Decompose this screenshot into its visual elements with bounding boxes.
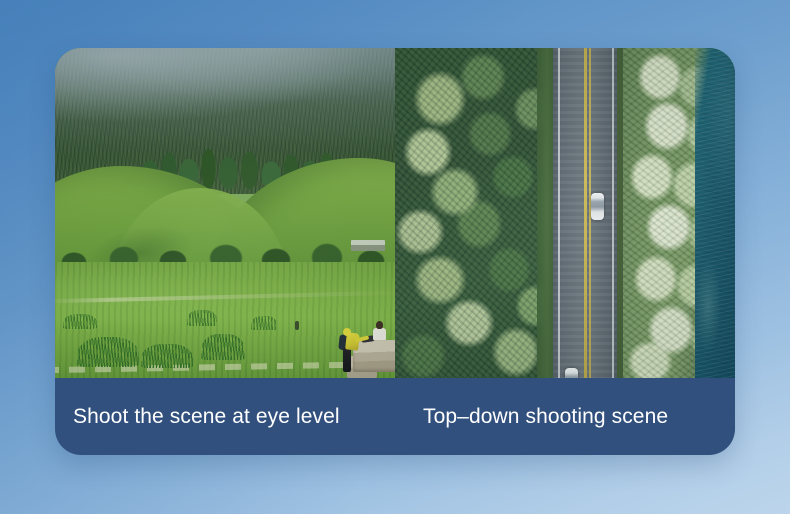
photo-color-grade-left: [55, 48, 395, 378]
caption-bar: Shoot the scene at eye level Top–down sh…: [55, 378, 735, 455]
photo-panel-top-down[interactable]: [395, 48, 735, 378]
screenshot-root: Shoot the scene at eye level Top–down sh…: [0, 0, 790, 514]
photo-panel-eye-level[interactable]: [55, 48, 395, 378]
caption-eye-level: Shoot the scene at eye level: [73, 405, 423, 429]
photo-color-grade-right: [395, 48, 735, 378]
comparison-card: Shoot the scene at eye level Top–down sh…: [55, 48, 735, 455]
photo-panes: [55, 48, 735, 378]
caption-top-down: Top–down shooting scene: [423, 405, 668, 429]
